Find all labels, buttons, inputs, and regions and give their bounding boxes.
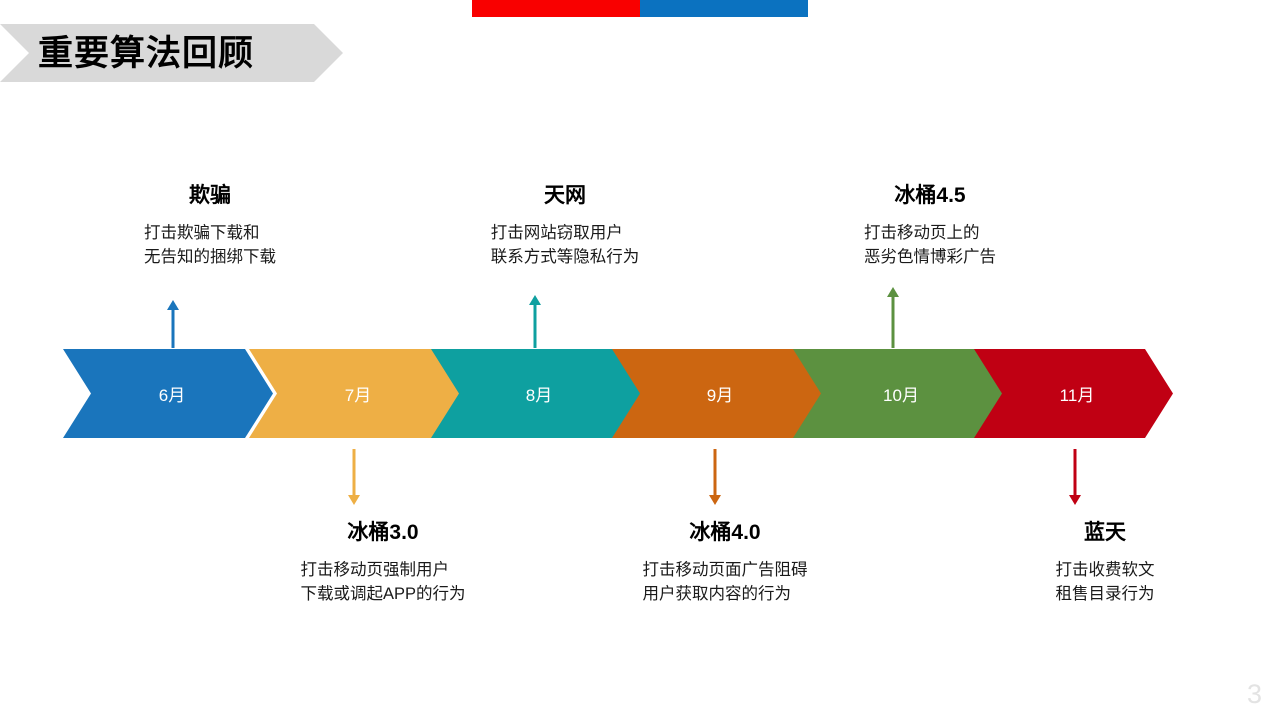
arrow-stem <box>1074 449 1077 497</box>
arrow-head-icon <box>887 287 899 297</box>
callout-description-line: 联系方式等隐私行为 <box>491 246 640 270</box>
top-accent-bar-red-segment <box>472 0 640 17</box>
timeline-segment-label: 9月 <box>707 381 733 406</box>
timeline-segment-6月[interactable]: 6月 <box>63 349 273 438</box>
timeline-segment-7月[interactable]: 7月 <box>249 349 459 438</box>
callout-qipian: 欺骗打击欺骗下载和无告知的捆绑下载 <box>85 183 335 270</box>
timeline-segment-label: 11月 <box>1060 381 1095 406</box>
connector-arrow-qipian <box>166 300 180 348</box>
callout-description: 打击移动页上的恶劣色情博彩广告 <box>864 222 996 270</box>
arrow-stem <box>172 308 175 348</box>
timeline-chevron-bar: 6月7月8月9月10月11月 <box>63 349 1173 438</box>
page-title: 重要算法回顾 <box>38 36 254 71</box>
arrow-stem <box>534 303 537 348</box>
timeline-segment-label: 10月 <box>883 381 919 406</box>
callout-description-line: 下载或调起APP的行为 <box>300 583 465 607</box>
callout-description-line: 打击移动页上的 <box>864 222 996 246</box>
callout-bingtong45: 冰桶4.5打击移动页上的恶劣色情博彩广告 <box>805 183 1055 270</box>
timeline-segment-label: 6月 <box>159 381 185 406</box>
connector-arrow-bingtong40 <box>708 449 722 505</box>
connector-arrow-bingtong45 <box>886 287 900 348</box>
arrow-head-icon <box>529 295 541 305</box>
top-accent-bar <box>472 0 808 17</box>
callout-description: 打击收费软文租售目录行为 <box>1056 559 1155 607</box>
callout-lantian: 蓝天打击收费软文租售目录行为 <box>980 520 1230 607</box>
callout-title: 冰桶3.0 <box>258 520 508 545</box>
timeline-segment-9月[interactable]: 9月 <box>611 349 821 438</box>
callout-description: 打击网站窃取用户联系方式等隐私行为 <box>491 222 640 270</box>
callout-title: 天网 <box>440 183 690 208</box>
timeline-segment-10月[interactable]: 10月 <box>792 349 1002 438</box>
top-accent-bar-blue-segment <box>640 0 808 17</box>
timeline-segment-label: 8月 <box>526 381 552 406</box>
connector-arrow-tianwang <box>528 295 542 348</box>
callout-bingtong40: 冰桶4.0打击移动页面广告阻碍用户获取内容的行为 <box>600 520 850 607</box>
callout-description: 打击移动页面广告阻碍用户获取内容的行为 <box>643 559 808 607</box>
callout-description-line: 租售目录行为 <box>1056 583 1155 607</box>
arrow-head-icon <box>1069 495 1081 505</box>
connector-arrow-bingtong30 <box>347 449 361 505</box>
arrow-head-icon <box>167 300 179 310</box>
slide-title-banner: 重要算法回顾 <box>0 24 343 82</box>
timeline-segment-8月[interactable]: 8月 <box>430 349 640 438</box>
callout-description-line: 打击欺骗下载和 <box>144 222 276 246</box>
callout-description-line: 无告知的捆绑下载 <box>144 246 276 270</box>
callout-bingtong30: 冰桶3.0打击移动页强制用户下载或调起APP的行为 <box>258 520 508 607</box>
callout-description-line: 打击网站窃取用户 <box>491 222 640 246</box>
arrow-head-icon <box>709 495 721 505</box>
timeline-segment-label: 7月 <box>345 381 371 406</box>
arrow-stem <box>892 295 895 348</box>
page-number: 3 <box>1247 679 1262 710</box>
callout-description-line: 恶劣色情博彩广告 <box>864 246 996 270</box>
callout-description-line: 打击移动页面广告阻碍 <box>643 559 808 583</box>
callout-description: 打击移动页强制用户下载或调起APP的行为 <box>300 559 465 607</box>
callout-description-line: 打击收费软文 <box>1056 559 1155 583</box>
callout-title: 冰桶4.0 <box>600 520 850 545</box>
callout-description-line: 打击移动页强制用户 <box>300 559 465 583</box>
timeline-segment-11月[interactable]: 11月 <box>973 349 1173 438</box>
arrow-stem <box>714 449 717 497</box>
callout-description: 打击欺骗下载和无告知的捆绑下载 <box>144 222 276 270</box>
callout-title: 欺骗 <box>85 183 335 208</box>
callout-description-line: 用户获取内容的行为 <box>643 583 808 607</box>
arrow-head-icon <box>348 495 360 505</box>
callout-title: 蓝天 <box>980 520 1230 545</box>
connector-arrow-lantian <box>1068 449 1082 505</box>
arrow-stem <box>353 449 356 497</box>
callout-title: 冰桶4.5 <box>805 183 1055 208</box>
callout-tianwang: 天网打击网站窃取用户联系方式等隐私行为 <box>440 183 690 270</box>
